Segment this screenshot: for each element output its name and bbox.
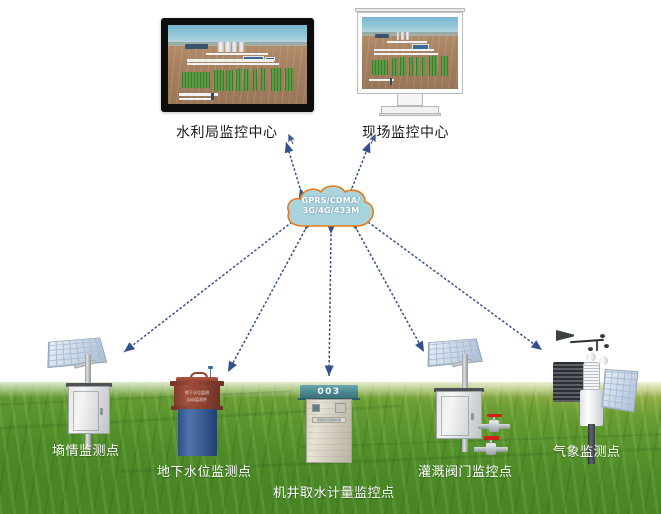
cursor-artifact (287, 131, 297, 150)
network-topology-diagram: 水利局监控中心 现场监控中心 (0, 0, 661, 514)
anemometer-cup (600, 334, 605, 338)
node-label-soil-moisture: 墒情监测点 (52, 440, 120, 459)
valve-icon (478, 414, 510, 434)
control-cabinet-icon (68, 386, 110, 434)
pump-house-meter-box (335, 403, 346, 413)
wind-vane-arm (570, 339, 604, 343)
pump-house-sign: 智能机井控制终端 (312, 417, 346, 423)
monitoring-well-head: 地下水位监测 自动监测井 (174, 385, 220, 408)
tv-monitor-icon (161, 18, 314, 112)
arrow-cloud-to-soil-moisture (124, 222, 292, 352)
node-label-valve: 灌溉阀门监控点 (418, 461, 513, 480)
radiation-sensor-icon (586, 352, 596, 362)
anemometer-mast (596, 341, 598, 351)
well-head-text-line1: 地下水位监测 (174, 390, 220, 396)
arrow-cloud-to-pump-house (329, 234, 331, 376)
monitoring-well-icon (178, 409, 217, 456)
arrow-cloud-to-weather (368, 222, 542, 350)
arrow-cloud-to-groundwater (228, 230, 305, 372)
monitor-neck (397, 94, 423, 106)
pump-house-icon: 智能机井控制终端 (306, 399, 352, 463)
radiation-shield-icon (583, 362, 600, 392)
pump-house-window (312, 404, 320, 412)
solar-panel-icon (601, 369, 638, 413)
monitor-base-foot (379, 113, 441, 116)
pump-house-roof: 003 (300, 385, 358, 399)
antenna-tip (208, 366, 213, 369)
weather-station-enclosure (580, 390, 603, 426)
arrow-cloud-to-valve (357, 230, 424, 352)
valve-icon (474, 436, 508, 457)
cloud-shape (283, 182, 379, 230)
wind-vane-icon (556, 330, 574, 341)
page-title-left: 水利局监控中心 (176, 122, 278, 142)
node-label-pump-house: 机井取水计量监控点 (273, 482, 395, 501)
anemometer-cup (604, 344, 609, 348)
cloud-icon: GPRS/CDMA/ 3G/4G/433M (283, 182, 379, 230)
humidity-sensor-icon (599, 356, 608, 365)
desktop-monitor-icon (357, 12, 463, 94)
desktop-screen-content (362, 17, 458, 89)
control-cabinet-icon (436, 391, 482, 439)
page-title-right: 现场监控中心 (362, 122, 449, 142)
node-label-groundwater: 地下水位监测点 (157, 461, 252, 480)
node-label-weather: 气象监测点 (553, 441, 621, 460)
anemometer-cup (588, 347, 593, 351)
pump-house-number: 003 (300, 387, 358, 397)
well-head-text-line2: 自动监测井 (174, 397, 220, 403)
tv-screen-content (168, 25, 307, 104)
